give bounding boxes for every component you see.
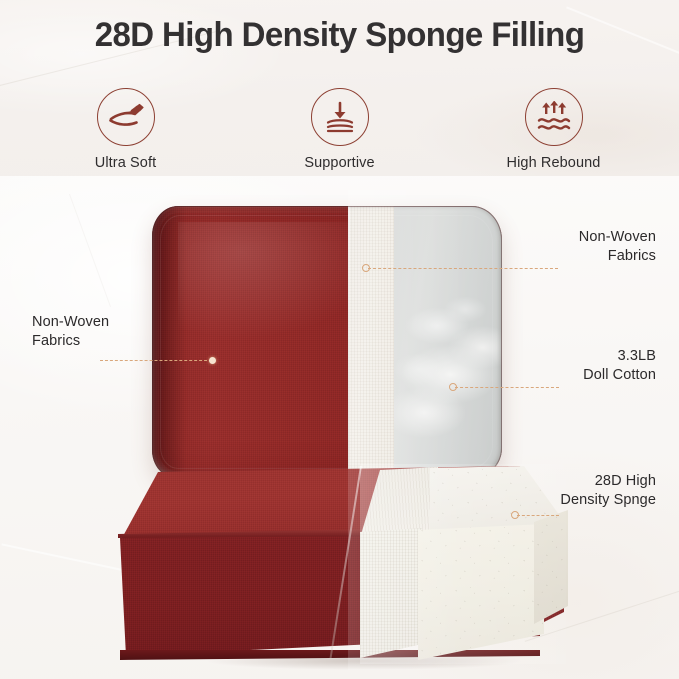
callout-target-marker: [449, 383, 457, 391]
callout-doll-cotton: 3.3LB Doll Cotton: [488, 347, 656, 385]
callout-non-woven-fabrics-right: Non-Woven Fabrics: [488, 228, 656, 266]
callout-label: 28D High: [488, 472, 656, 491]
callout-label: 3.3LB: [488, 347, 656, 366]
callout-label: Doll Cotton: [488, 366, 656, 385]
back-cushion-inner-lining: [348, 206, 396, 478]
seat-cushion-front-lining: [360, 528, 422, 658]
callout-target-marker: [511, 511, 519, 519]
cutaway-edge: [330, 466, 362, 658]
callout-label: Fabrics: [488, 247, 656, 266]
callout-label: Fabrics: [32, 332, 109, 351]
cutaway-edge: [348, 206, 350, 478]
callout-label: Non-Woven: [32, 313, 109, 332]
callout-non-woven-fabrics-left: Non-Woven Fabrics: [32, 313, 109, 351]
foam-speckle-texture: [418, 524, 544, 660]
callout-leader-line: [368, 268, 558, 269]
callout-leader-line: [100, 360, 212, 361]
callout-target-marker: [362, 264, 370, 272]
product-infographic: 28D High Density Sponge Filling Ultra So…: [0, 0, 679, 679]
callout-target-marker: [209, 357, 216, 364]
seat-cushion-foam-core: [418, 524, 544, 660]
callout-leader-line: [455, 387, 559, 388]
callout-high-density-sponge: 28D High Density Spnge: [488, 472, 656, 510]
foam-speckle-texture: [534, 508, 568, 636]
callout-leader-line: [517, 515, 559, 516]
back-cushion: [152, 206, 502, 478]
back-cushion-doll-cotton-fill: [394, 206, 502, 478]
callout-label: Density Spnge: [488, 491, 656, 510]
callout-label: Non-Woven: [488, 228, 656, 247]
seat-cushion-side-foam: [534, 508, 568, 636]
